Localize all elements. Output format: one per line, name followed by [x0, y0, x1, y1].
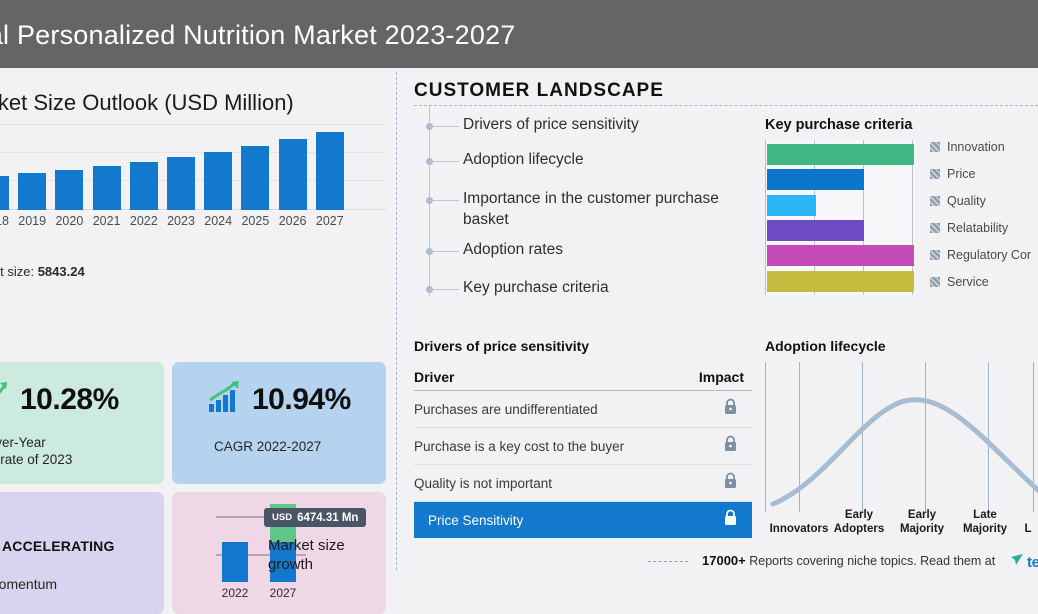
kpi-yoy-row: 10.28% [0, 380, 119, 419]
adoption-lifecycle-title: Adoption lifecycle [765, 338, 886, 354]
kpi-cagr-label: CAGR 2022-2027 [214, 438, 404, 455]
lock-icon [723, 509, 738, 531]
x-tick-2023: 2023 [162, 214, 200, 228]
customer-landscape-item-label: Key purchase criteria [463, 277, 733, 298]
kpc-legend-label: Service [947, 275, 989, 289]
infographic-root: Global Personalized Nutrition Market 202… [0, 0, 1038, 576]
page-title: Global Personalized Nutrition Market 202… [0, 20, 516, 51]
usd-badge-value: 6474.31 Mn [297, 512, 358, 524]
kpi-cagr-value: 10.94% [252, 383, 351, 417]
driver-row[interactable]: Purchases are undifferentiated [414, 391, 752, 428]
customer-landscape-item-label: Drivers of price sensitivity [463, 114, 733, 135]
x-tick-2027: 2027 [311, 214, 349, 228]
connector-line [429, 251, 459, 252]
x-tick-2026: 2026 [274, 214, 312, 228]
drivers-title: Drivers of price sensitivity [414, 338, 589, 354]
bar-rect [0, 176, 9, 210]
driver-name: Price Sensitivity [428, 513, 523, 528]
kpi-cagr-row: 10.94% [208, 380, 351, 419]
bar-rect [316, 132, 344, 210]
bar-series [0, 124, 386, 210]
adoption-stage-label-1: Innovators [767, 508, 831, 536]
kpc-bar-quality [767, 195, 816, 216]
x-tick-2018: 2018 [0, 214, 14, 228]
technavio-wordmark: te [1027, 554, 1038, 571]
x-tick-2020: 2020 [50, 214, 88, 228]
kpc-legend-label: Relatability [947, 221, 1008, 235]
connector-line [429, 200, 459, 201]
market-size-panel: Market Size Outlook (USD Million) 201820… [0, 68, 396, 576]
kpi-momentum-row: ACCELERATING [0, 528, 115, 563]
kpi-momentum-value: ACCELERATING [2, 538, 115, 554]
bar-2026 [279, 139, 307, 210]
footer-rule [648, 561, 688, 562]
bar-rect [279, 139, 307, 210]
customer-landscape-item-label: Importance in the customer purchase bask… [463, 188, 733, 230]
driver-row[interactable]: Purchase is a key cost to the buyer [414, 428, 752, 465]
kpi-card-momentum: ACCELERATING Growth Momentum [0, 492, 164, 614]
bar-rect [18, 173, 46, 210]
customer-landscape-title: CUSTOMER LANDSCAPE [414, 80, 664, 102]
kpi-card-cagr: 10.94% CAGR 2022-2027 [172, 362, 386, 484]
kpi-card-yoy: 10.28% Year-over-Year growth rate of 202… [0, 362, 164, 484]
kpc-legend-label: Price [947, 167, 975, 181]
lock-icon [723, 435, 738, 457]
market-size-growth-label: Market size growth [268, 536, 378, 574]
kpc-legend-label: Quality [947, 194, 986, 208]
driver-name: Quality is not important [414, 476, 552, 491]
market-size-title: Market Size Outlook (USD Million) [0, 90, 294, 116]
connector-line [429, 161, 459, 162]
footer-report-count: 17000+ [702, 553, 746, 568]
market-size-note: Market size: 5843.24 [0, 264, 85, 279]
kpi-card-growth: 2022 2027 USD 6474.31 Mn Market size gro… [172, 492, 386, 614]
usd-badge: USD 6474.31 Mn [264, 508, 366, 527]
kpc-bar-service [767, 271, 914, 292]
bar-2024 [204, 152, 232, 210]
legend-swatch-icon [930, 250, 940, 260]
x-tick-2025: 2025 [236, 214, 274, 228]
x-tick-2021: 2021 [88, 214, 126, 228]
customer-landscape-rule [414, 105, 1038, 106]
adoption-lifecycle-chart [765, 362, 1038, 512]
legend-swatch-icon [930, 223, 940, 233]
kpc-legend-label: Innovation [947, 140, 1005, 154]
driver-name: Purchases are undifferentiated [414, 402, 598, 417]
technavio-logo[interactable]: te [1010, 552, 1038, 572]
kpc-legend-item-5: Regulatory Cor [930, 248, 1031, 262]
key-purchase-criteria-chart [765, 140, 915, 295]
bar-rect [93, 166, 121, 210]
kpc-legend-item-2: Price [930, 167, 975, 181]
column-header-impact: Impact [699, 369, 744, 385]
kpc-bar-price [767, 169, 864, 190]
technavio-arrow-icon [1010, 552, 1025, 572]
bar-rect [130, 162, 158, 210]
column-header-driver: Driver [414, 369, 454, 385]
adoption-lifecycle-labels: InnovatorsEarlyAdoptersEarlyMajorityLate… [765, 508, 1038, 542]
driver-row[interactable]: Price Sensitivity [414, 502, 752, 538]
bar-2018 [0, 176, 9, 210]
bar-2019 [18, 173, 46, 210]
panel-divider [396, 72, 397, 570]
kpc-bar-relatability [767, 220, 864, 241]
bar-2025 [241, 146, 269, 210]
legend-swatch-icon [930, 196, 940, 206]
kpc-legend-item-6: Service [930, 275, 989, 289]
kpc-legend-item-3: Quality [930, 194, 986, 208]
usd-badge-currency: USD [272, 512, 292, 523]
x-tick-2024: 2024 [199, 214, 237, 228]
bar-2022 [130, 162, 158, 210]
bar-rect [204, 152, 232, 210]
adoption-stage-label-3: EarlyMajority [890, 508, 954, 536]
legend-swatch-icon [930, 277, 940, 287]
mini-bar-2022 [222, 542, 248, 582]
market-size-bar-chart: 2018201920202021202220232024202520262027 [0, 124, 386, 284]
connector-line [429, 289, 459, 290]
kpc-legend-item-4: Relatability [930, 221, 1008, 235]
bar-rect [241, 146, 269, 210]
bar-2021 [93, 166, 121, 210]
connector-line [429, 126, 459, 127]
x-tick-2022: 2022 [125, 214, 163, 228]
kpc-bar-innovation [767, 144, 914, 165]
footer-caption: Reports covering niche topics. Read them… [749, 554, 995, 568]
adoption-curve [765, 362, 1038, 512]
legend-swatch-icon [930, 142, 940, 152]
legend-swatch-icon [930, 169, 940, 179]
driver-name: Purchase is a key cost to the buyer [414, 439, 624, 454]
market-size-note-prefix: Market size: [0, 264, 34, 279]
kpi-momentum-label: Growth Momentum [0, 576, 57, 592]
bar-2020 [55, 170, 83, 210]
adoption-stage-label-4: LateMajority [953, 508, 1017, 536]
kpi-yoy-value: 10.28% [20, 383, 119, 417]
kpc-legend-label: Regulatory Cor [947, 248, 1031, 262]
kpc-bar-regulatory-compliance [767, 245, 914, 266]
bar-chart-up-icon [208, 380, 242, 419]
adoption-stage-label-2: EarlyAdopters [827, 508, 891, 536]
lock-icon [723, 398, 738, 420]
kpc-legend-item-1: Innovation [930, 140, 1005, 154]
header-bar: Global Personalized Nutrition Market 202… [0, 0, 1038, 68]
x-tick-2019: 2019 [13, 214, 51, 228]
drivers-table-header: Driver Impact [414, 364, 752, 391]
key-purchase-criteria-title: Key purchase criteria [765, 117, 913, 133]
kpc-axis-line [765, 140, 766, 295]
bar-2027 [316, 132, 344, 210]
footer-text: 17000+ Reports covering niche topics. Re… [702, 553, 995, 568]
drivers-table: Driver Impact Purchases are undifferenti… [414, 364, 752, 538]
driver-row[interactable]: Quality is not important [414, 465, 752, 502]
bar-rect [55, 170, 83, 210]
kpi-yoy-label: Year-over-Year growth rate of 2023 [0, 434, 156, 468]
bar-up-arrow-icon [0, 380, 10, 419]
bar-rect [167, 157, 195, 210]
mini-label-2027: 2027 [263, 586, 303, 600]
lock-icon [723, 472, 738, 494]
customer-landscape-item-label: Adoption lifecycle [463, 149, 733, 170]
market-size-note-value: 5843.24 [38, 264, 85, 279]
customer-landscape-item-label: Adoption rates [463, 239, 733, 260]
mini-label-2022: 2022 [215, 586, 255, 600]
adoption-stage-label-5: L [1013, 508, 1038, 536]
bar-2023 [167, 157, 195, 210]
